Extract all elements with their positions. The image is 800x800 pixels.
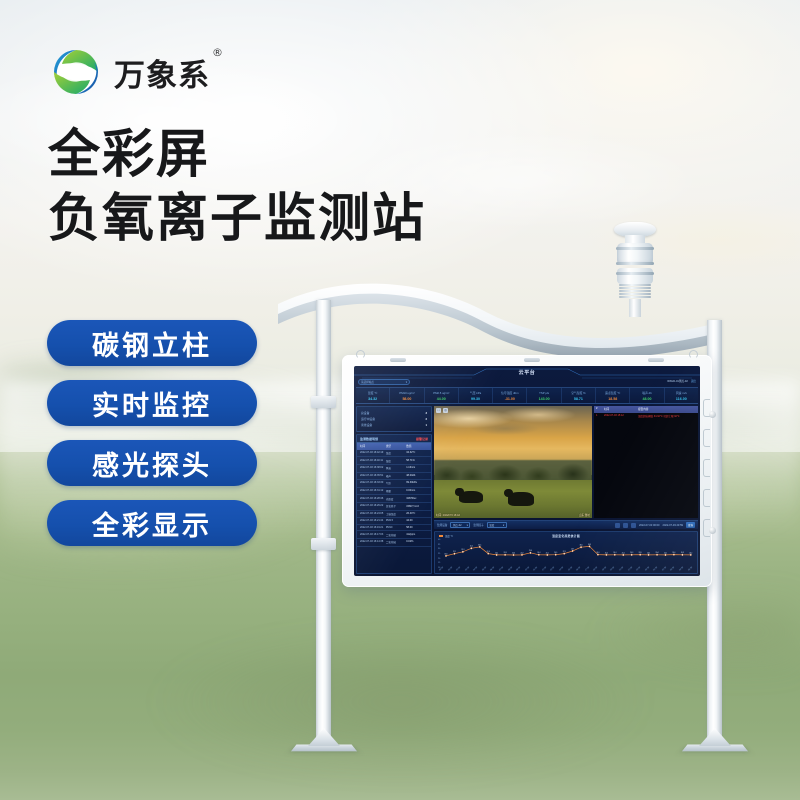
table-cell: 二氧化硫 — [386, 540, 406, 544]
history-rows[interactable]: 2022-07-03 16:42:19温度34.32℃2022-07-03 16… — [357, 450, 431, 573]
display-cabinet: 云平台 请选择站点 ▾ WXHD-01测点-02 退出 温度 ℃34.32PM1… — [342, 355, 712, 587]
status-line: 运行中设备2 — [361, 417, 427, 421]
cabinet-vent — [703, 459, 710, 477]
trademark-symbol: ® — [212, 46, 224, 59]
cow-figure — [459, 491, 483, 503]
start-date-field[interactable]: 2022-07-03 00:00 — [639, 524, 659, 527]
history-column-header: 类型 — [386, 444, 406, 448]
table-row[interactable]: 2022-07-03 16:21:44PM2.544.00 — [357, 518, 431, 525]
factor-filter-label: 监测因子 — [473, 523, 483, 527]
metric-label: PM2.5 ug/m³ — [433, 391, 449, 395]
table-cell: 0.00mm — [406, 489, 428, 493]
legend-label: 温度 ℃ — [445, 534, 453, 538]
table-cell: 58.71% — [406, 459, 428, 463]
cabinet-vent — [703, 489, 710, 507]
metric-label: 风速 m/s — [676, 391, 687, 395]
table-row[interactable]: 2022-07-03 16:31:12雨量0.00mm — [357, 488, 431, 496]
table-cell: 2022-07-03 16:42:19 — [360, 451, 386, 455]
snapshot-icon[interactable]: ◎ — [443, 408, 448, 413]
metric-value: 143.00 — [539, 397, 550, 401]
device-filter-value: 测点-02 — [453, 523, 462, 527]
metric-card-8: 露点温度 ℃18.58 — [596, 388, 630, 403]
metric-value: 18.58 — [608, 397, 617, 401]
svg-text:33.0: 33.0 — [580, 544, 583, 546]
svg-text:20.6: 20.6 — [596, 552, 599, 554]
table-cell: 风速 — [386, 466, 406, 470]
camera-feed[interactable]: ⛶ ◎ 时间: 2022/7/3 16:42 山东 潍坊 — [434, 406, 592, 518]
svg-text:26.7: 26.7 — [571, 548, 574, 550]
table-cell: 负氧离子 — [386, 504, 406, 508]
cabinet-lock-knob[interactable] — [709, 527, 716, 534]
export-icon[interactable] — [631, 523, 636, 528]
alarm-column-header: 时间 — [604, 407, 638, 411]
lifting-hook-left — [356, 350, 365, 359]
brand-name-text: 万象系 — [114, 58, 210, 94]
feature-pill-label: 全彩显示 — [92, 504, 212, 543]
table-row[interactable]: 2022-07-03 16:38:02风速1.16m/s — [357, 465, 431, 473]
y-tick-label: 15 — [438, 562, 445, 564]
y-tick-label: 40 — [438, 539, 445, 541]
svg-text:20.4: 20.4 — [656, 552, 659, 554]
alarm-cell: 1 — [596, 414, 604, 418]
metric-value: 58.00 — [402, 397, 411, 401]
trend-chart-panel: 温度 ℃ 温度变化趋势统计图 40353025201510 18.522.125… — [434, 531, 698, 574]
status-key: 运行中设备 — [361, 417, 375, 421]
dashboard-screen[interactable]: 云平台 请选择站点 ▾ WXHD-01测点-02 退出 温度 ℃34.32PM1… — [354, 366, 700, 576]
chart-x-axis: 00:0001:0002:0003:0004:0005:0006:0007:00… — [438, 570, 694, 572]
feature-pill-2[interactable]: 实时监控 — [47, 380, 257, 426]
metric-card-1: 温度 ℃34.32 — [356, 388, 390, 403]
table-cell: 气压 — [386, 481, 406, 485]
feature-pill-label: 感光探头 — [92, 444, 212, 483]
metric-label: 空气湿度 % — [571, 391, 585, 395]
user-area[interactable]: WXHD-01测点-02 退出 — [667, 379, 696, 383]
svg-text:20.1: 20.1 — [546, 552, 549, 554]
sensor-ring — [616, 247, 654, 250]
table-cell: 2022-07-03 16:28:46 — [360, 497, 386, 501]
y-tick-label: 20 — [438, 558, 445, 560]
user-name: WXHD-01测点-02 — [667, 379, 688, 383]
history-header: 监测数据明细 报警记录 — [357, 435, 431, 443]
table-cell: 2022-07-03 16:35:51 — [360, 474, 386, 478]
metrics-strip: 温度 ℃34.32PM10 ug/m³58.00PM2.5 ug/m³44.00… — [356, 387, 698, 404]
metric-card-3: PM2.5 ug/m³44.00 — [425, 388, 459, 403]
table-cell: 2022-07-03 16:31:12 — [360, 489, 386, 493]
query-button[interactable]: 查询 — [686, 522, 695, 528]
alarm-record-link[interactable]: 报警记录 — [416, 437, 428, 441]
svg-text:25.3: 25.3 — [461, 549, 464, 551]
table-cell: 2022-07-03 16:19:21 — [360, 526, 386, 529]
table-cell: 雨量 — [386, 489, 406, 493]
base-plate-left — [294, 728, 354, 754]
cow-figure — [508, 492, 533, 505]
logout-button[interactable]: 退出 — [691, 379, 696, 383]
alarm-row[interactable]: 12022-07-03 15:12温度超出阈值 34.32℃ 已超上限 32℃ — [594, 413, 698, 420]
table-cell: 48.00db — [406, 474, 428, 478]
table-row[interactable]: 2022-07-03 16:28:46光照度32870lux — [357, 495, 431, 503]
factor-filter-select[interactable]: 温度 ▾ — [487, 522, 507, 528]
table-cell: 34.32℃ — [406, 451, 428, 455]
table-cell: 光照度 — [386, 497, 406, 501]
metric-card-4: 气压 kPa99.30 — [459, 388, 493, 403]
table-cell: 2022-07-03 16:26:22 — [360, 504, 386, 508]
alarm-column-header: 报警内容 — [638, 407, 696, 411]
alarm-panel: #时间报警内容 12022-07-03 15:12温度超出阈值 34.32℃ 已… — [594, 406, 698, 518]
svg-text:22.3: 22.3 — [563, 551, 566, 553]
table-cell: 99.30kPa — [406, 481, 428, 485]
device-filter-select[interactable]: 测点-02 ▾ — [450, 522, 470, 528]
history-columns: 时间类型数值 — [357, 443, 431, 450]
lifting-hook-right — [689, 350, 698, 359]
metric-label: 气压 kPa — [470, 391, 481, 395]
cabinet-lock-knob[interactable] — [709, 411, 716, 418]
metric-value: 116.00 — [676, 397, 687, 401]
metric-value: 58.71 — [574, 397, 583, 401]
weather-sensor — [609, 222, 661, 308]
alarm-cell: 2022-07-03 15:12 — [604, 414, 638, 418]
status-key: 离线设备 — [361, 423, 372, 427]
table-cell: PM10 — [386, 526, 406, 529]
table-row[interactable]: 2022-07-03 16:26:22负氧离子1580个/cm³ — [357, 503, 431, 511]
table-cell: 26.40℃ — [406, 512, 428, 516]
svg-text:20.4: 20.4 — [537, 552, 540, 554]
svg-text:20.1: 20.1 — [622, 552, 625, 554]
post-bracket-upper — [311, 396, 336, 408]
table-cell: 32870lux — [406, 497, 428, 501]
video-area: ⛶ ◎ 时间: 2022/7/3 16:42 山东 潍坊 #时间报警内容 120… — [434, 406, 698, 518]
fullscreen-icon[interactable]: ⛶ — [436, 408, 441, 413]
headline-line-1: 全彩屏 — [48, 124, 426, 186]
table-row[interactable]: 2022-07-03 16:14:38二氧化硫0.02% — [357, 539, 431, 547]
status-line: 离线设备1 — [361, 423, 427, 427]
table-cell: 2022-07-03 16:40:11 — [360, 459, 386, 463]
table-cell: 58.00 — [406, 526, 428, 529]
y-tick-label: 30 — [438, 548, 445, 550]
feature-pill-list: 碳钢立柱实时监控感光探头全彩显示 — [47, 320, 257, 546]
svg-text:22.4: 22.4 — [487, 551, 490, 553]
chevron-down-icon: ▾ — [406, 381, 407, 384]
metric-card-6: TSP µG143.00 — [527, 388, 561, 403]
metric-value: 99.30 — [471, 397, 480, 401]
feed-location: 山东 潍坊 — [579, 513, 590, 517]
cabinet-tab — [390, 358, 406, 362]
table-cell: 2022-07-03 16:24:05 — [360, 512, 386, 516]
svg-text:20.2: 20.2 — [689, 552, 692, 554]
table-cell: 1580个/cm³ — [406, 504, 428, 508]
table-cell: 0.02% — [406, 540, 428, 544]
sensor-lower-body — [617, 268, 653, 284]
metric-label: PM10 ug/m³ — [399, 391, 414, 395]
status-value: 3 — [425, 411, 427, 415]
feature-pill-label: 实时监控 — [92, 384, 212, 423]
feed-toolbar[interactable]: ⛶ ◎ — [436, 408, 448, 413]
table-cell: 412ppm — [406, 533, 428, 537]
feature-pill-3[interactable]: 感光探头 — [47, 440, 257, 486]
chart-plot: 40353025201510 18.522.125.331.233.522.42… — [438, 539, 694, 569]
svg-text:20.3: 20.3 — [504, 552, 507, 554]
site-select[interactable]: 请选择站点 ▾ — [358, 379, 410, 385]
brand-lockup: 万象系 ® — [48, 44, 210, 100]
metric-value: 48.00 — [643, 397, 652, 401]
svg-text:20.4: 20.4 — [613, 552, 616, 554]
factor-filter-value: 温度 — [489, 523, 494, 527]
chart-type-bar-icon[interactable] — [615, 523, 620, 528]
table-cell: 2022-07-03 16:14:38 — [360, 540, 386, 544]
support-post-left — [316, 300, 331, 740]
table-row[interactable]: 2022-07-03 16:17:03二氧化碳412ppm — [357, 531, 431, 539]
alarm-columns: #时间报警内容 — [594, 406, 698, 413]
headline-block: 全彩屏 负氧离子监测站 — [48, 124, 426, 252]
chart-type-line-icon[interactable] — [623, 523, 628, 528]
cabinet-vent — [703, 429, 710, 447]
table-row[interactable]: 2022-07-03 16:35:51噪声48.00db — [357, 473, 431, 481]
cabinet-tab — [524, 358, 540, 362]
svg-text:31.2: 31.2 — [470, 546, 473, 548]
svg-text:20.5: 20.5 — [554, 552, 557, 554]
y-tick-label: 25 — [438, 553, 445, 555]
table-row[interactable]: 2022-07-03 16:24:05土壤温度26.40℃ — [357, 511, 431, 519]
svg-text:33.5: 33.5 — [478, 544, 481, 546]
left-column: 总设备3运行中设备2离线设备1 监测数据明细 报警记录 时间类型数值 2022-… — [356, 406, 432, 574]
feed-timestamp: 时间: 2022/7/3 16:42 — [436, 513, 460, 517]
table-cell: 2022-07-03 16:33:30 — [360, 481, 386, 485]
metric-card-7: 空气湿度 %58.71 — [562, 388, 596, 403]
dashboard-body: 总设备3运行中设备2离线设备1 监测数据明细 报警记录 时间类型数值 2022-… — [356, 406, 698, 574]
svg-text:20.6: 20.6 — [672, 552, 675, 554]
feature-pill-label: 碳钢立柱 — [92, 324, 212, 363]
alarm-column-header: # — [596, 407, 604, 411]
table-cell: 1.16m/s — [406, 466, 428, 470]
table-row[interactable]: 2022-07-03 16:33:30气压99.30kPa — [357, 480, 431, 488]
chevron-down-icon: ▾ — [467, 524, 468, 527]
device-filter-label: 监测设备 — [437, 523, 447, 527]
cabinet-tab — [648, 358, 664, 362]
svg-text:20.3: 20.3 — [681, 552, 684, 554]
alarm-cell: 温度超出阈值 34.32℃ 已超上限 32℃ — [638, 414, 696, 418]
history-panel: 监测数据明细 报警记录 时间类型数值 2022-07-03 16:42:19温度… — [356, 434, 432, 574]
status-value: 1 — [425, 423, 427, 427]
status-key: 总设备 — [361, 411, 369, 415]
table-row[interactable]: 2022-07-03 16:19:21PM1058.00 — [357, 525, 431, 532]
sensor-stem — [629, 299, 641, 317]
table-cell: 二氧化碳 — [386, 533, 406, 537]
metric-label: 露点温度 ℃ — [605, 391, 620, 395]
metric-value: -31.00 — [505, 397, 515, 401]
history-column-header: 时间 — [360, 444, 386, 448]
table-row[interactable]: 2022-07-03 16:42:19温度34.32℃ — [357, 450, 431, 458]
brand-name: 万象系 ® — [114, 50, 210, 95]
table-cell: 土壤温度 — [386, 512, 406, 516]
svg-text:20.1: 20.1 — [664, 552, 667, 554]
legend-swatch — [439, 535, 443, 536]
main-column: ⛶ ◎ 时间: 2022/7/3 16:42 山东 潍坊 #时间报警内容 120… — [434, 406, 698, 574]
table-cell: 温度 — [386, 451, 406, 455]
svg-text:20.2: 20.2 — [520, 552, 523, 554]
svg-text:23.6: 23.6 — [529, 550, 532, 552]
history-column-header: 数值 — [406, 444, 428, 448]
table-row[interactable]: 2022-07-03 16:40:11湿度58.71% — [357, 457, 431, 465]
metric-label: 噪声 db — [642, 391, 651, 395]
metric-value: 44.00 — [437, 397, 446, 401]
table-cell: PM2.5 — [386, 519, 406, 522]
chart-y-axis: 40353025201510 — [438, 539, 445, 569]
feature-pill-1[interactable]: 碳钢立柱 — [47, 320, 257, 366]
svg-text:34.3: 34.3 — [588, 544, 591, 546]
globe-swirl-logo — [48, 44, 104, 100]
site-select-value: 请选择站点 — [361, 380, 374, 384]
svg-text:20.2: 20.2 — [647, 552, 650, 554]
chevron-down-icon: ▾ — [503, 524, 504, 527]
svg-text:20.0: 20.0 — [512, 552, 515, 554]
metric-label: 信号强度 dbm — [501, 391, 518, 395]
radiation-shield-fins — [619, 284, 651, 300]
y-tick-label: 35 — [438, 544, 445, 546]
metric-label: TSP µG — [539, 391, 549, 395]
table-cell: 湿度 — [386, 459, 406, 463]
metric-card-9: 噪声 db48.00 — [630, 388, 664, 403]
table-cell: 44.00 — [406, 519, 428, 522]
sensor-ring — [616, 272, 654, 275]
device-status-panel: 总设备3运行中设备2离线设备1 — [356, 406, 432, 432]
headline-line-2: 负氧离子监测站 — [48, 186, 426, 252]
chart-title: 温度变化趋势统计图 — [438, 534, 694, 538]
table-cell: 2022-07-03 16:17:03 — [360, 533, 386, 537]
status-value: 2 — [425, 417, 427, 421]
metric-label: 温度 ℃ — [368, 391, 378, 395]
dashboard-title: 云平台 — [354, 369, 700, 376]
chart-controls[interactable]: 监测设备 测点-02 ▾ 监测因子 温度 ▾ — [434, 520, 698, 529]
svg-text:20.2: 20.2 — [605, 552, 608, 554]
metric-card-5: 信号强度 dbm-31.00 — [493, 388, 527, 403]
end-date-field[interactable]: 2022-07-03 23:59 — [663, 524, 683, 527]
sensor-ring — [616, 262, 654, 265]
post-bracket-lower — [311, 538, 336, 550]
svg-text:20.3: 20.3 — [630, 552, 633, 554]
status-line: 总设备3 — [361, 411, 427, 415]
svg-text:22.1: 22.1 — [453, 551, 456, 553]
svg-text:20.1: 20.1 — [495, 552, 498, 554]
alarm-rows[interactable]: 12022-07-03 15:12温度超出阈值 34.32℃ 已超上限 32℃ — [594, 413, 698, 420]
metric-card-2: PM10 ug/m³58.00 — [390, 388, 424, 403]
table-cell: 2022-07-03 16:21:44 — [360, 519, 386, 522]
table-cell: 2022-07-03 16:38:02 — [360, 466, 386, 470]
svg-text:20.5: 20.5 — [639, 552, 642, 554]
base-plate-right — [685, 728, 745, 754]
history-title: 监测数据明细 — [360, 437, 378, 441]
metric-card-10: 风速 m/s116.00 — [665, 388, 698, 403]
chart-series: 18.522.125.331.233.522.420.120.320.020.2… — [438, 539, 694, 569]
table-cell: 噪声 — [386, 474, 406, 478]
chart-legend: 温度 ℃ — [439, 534, 453, 538]
metric-value: 34.32 — [368, 397, 377, 401]
feature-pill-4[interactable]: 全彩显示 — [47, 500, 257, 546]
